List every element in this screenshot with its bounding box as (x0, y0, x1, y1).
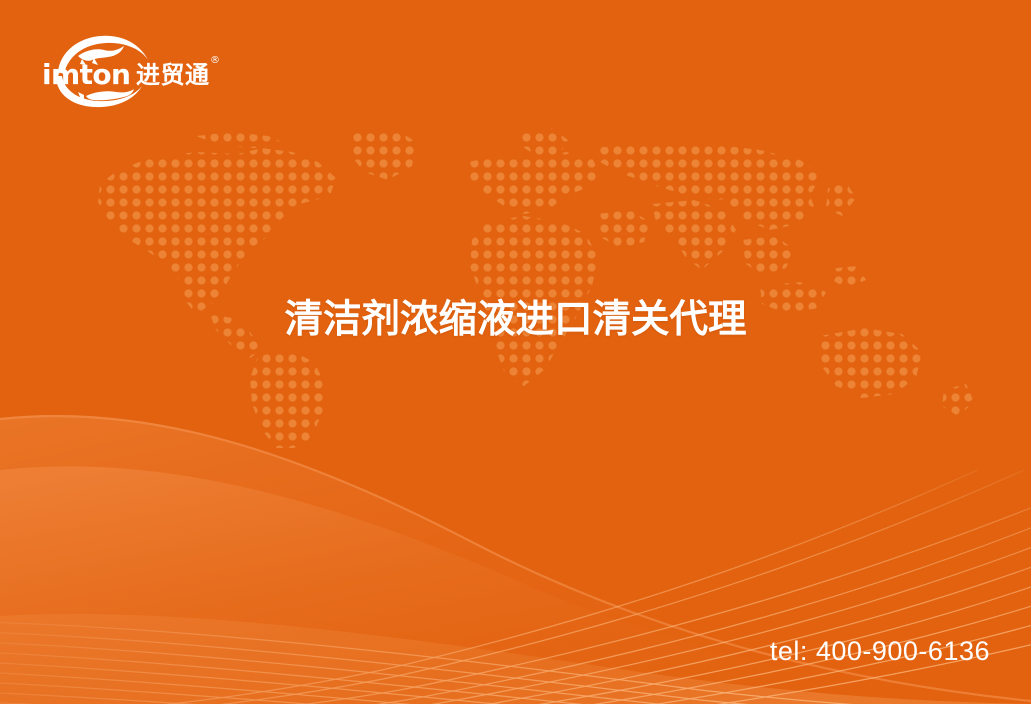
contact-phone[interactable]: tel: 400-900-6136 (770, 636, 990, 667)
page-title: 清洁剂浓缩液进口清关代理 (0, 300, 1031, 340)
registered-trademark-icon: ® (210, 55, 220, 66)
logo-wordmark: imton (42, 58, 130, 91)
world-map-dots (0, 118, 1031, 448)
brand-logo[interactable]: imton 进贸通 ® (38, 30, 228, 110)
logo-chinese-name: 进贸通 (136, 61, 210, 89)
promo-banner: imton 进贸通 ® 清洁剂浓缩液进口清关代理 tel: 400-900-61… (0, 0, 1031, 704)
